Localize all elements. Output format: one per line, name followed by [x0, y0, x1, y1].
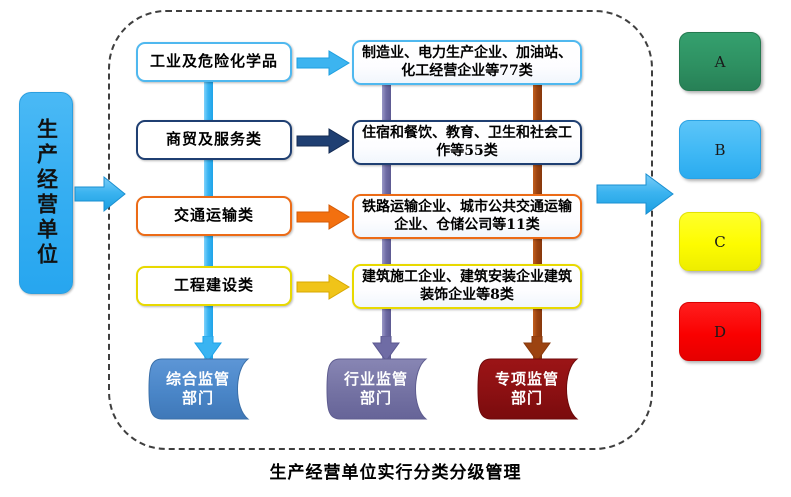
legend-label: B — [714, 141, 725, 159]
detail-box-construction[interactable]: 建筑施工企业、建筑安装企业建筑装饰企业等8类 — [352, 264, 582, 309]
legend-label: D — [714, 323, 726, 341]
legend-box-c[interactable]: C — [679, 212, 761, 271]
department-label: 专项监管部门 — [477, 358, 577, 420]
arrow-category-to-detail-4 — [296, 274, 350, 300]
category-box-industrial[interactable]: 工业及危险化学品 — [136, 42, 292, 82]
detail-box-commerce[interactable]: 住宿和餐饮、教育、卫生和社会工作等55类 — [352, 120, 582, 165]
legend-box-b[interactable]: B — [679, 120, 761, 179]
diagram-canvas: 生产经营单位 工 — [0, 0, 791, 497]
category-label: 交通运输类 — [174, 207, 254, 224]
category-label: 工业及危险化学品 — [150, 53, 278, 70]
arrow-category-to-detail-2 — [296, 128, 350, 154]
arrow-category-to-detail-3 — [296, 204, 350, 230]
detail-label: 建筑施工企业、建筑安装企业建筑装饰企业等8类 — [354, 269, 580, 304]
category-label: 商贸及服务类 — [166, 131, 262, 148]
arrow-source-to-frame — [74, 175, 126, 213]
arrow-frame-to-legend — [596, 172, 674, 216]
department-label: 行业监管部门 — [326, 358, 426, 420]
arrow-category-to-detail-1 — [296, 50, 350, 76]
diagram-caption: 生产经营单位实行分类分级管理 — [0, 458, 791, 483]
detail-label: 住宿和餐饮、教育、卫生和社会工作等55类 — [354, 125, 580, 160]
legend-label: A — [715, 53, 726, 71]
department-box-comprehensive[interactable]: 综合监管部门 — [148, 358, 273, 420]
category-box-construction[interactable]: 工程建设类 — [136, 266, 292, 306]
detail-label: 制造业、电力生产企业、加油站、化工经营企业等77类 — [354, 45, 580, 80]
detail-box-transport[interactable]: 铁路运输企业、城市公共交通运输企业、仓储公司等11类 — [352, 194, 582, 239]
detail-label: 铁路运输企业、城市公共交通运输企业、仓储公司等11类 — [354, 199, 580, 234]
source-box-production-unit: 生产经营单位 — [19, 92, 73, 294]
category-box-transport[interactable]: 交通运输类 — [136, 196, 292, 236]
legend-box-a[interactable]: A — [679, 32, 761, 91]
category-label: 工程建设类 — [174, 277, 254, 294]
source-box-label: 生产经营单位 — [36, 118, 57, 268]
department-box-industry[interactable]: 行业监管部门 — [326, 358, 451, 420]
detail-box-industrial[interactable]: 制造业、电力生产企业、加油站、化工经营企业等77类 — [352, 40, 582, 85]
department-label: 综合监管部门 — [148, 358, 248, 420]
category-box-commerce[interactable]: 商贸及服务类 — [136, 120, 292, 160]
department-box-special[interactable]: 专项监管部门 — [477, 358, 602, 420]
legend-box-d[interactable]: D — [679, 302, 761, 361]
legend-label: C — [714, 233, 725, 251]
